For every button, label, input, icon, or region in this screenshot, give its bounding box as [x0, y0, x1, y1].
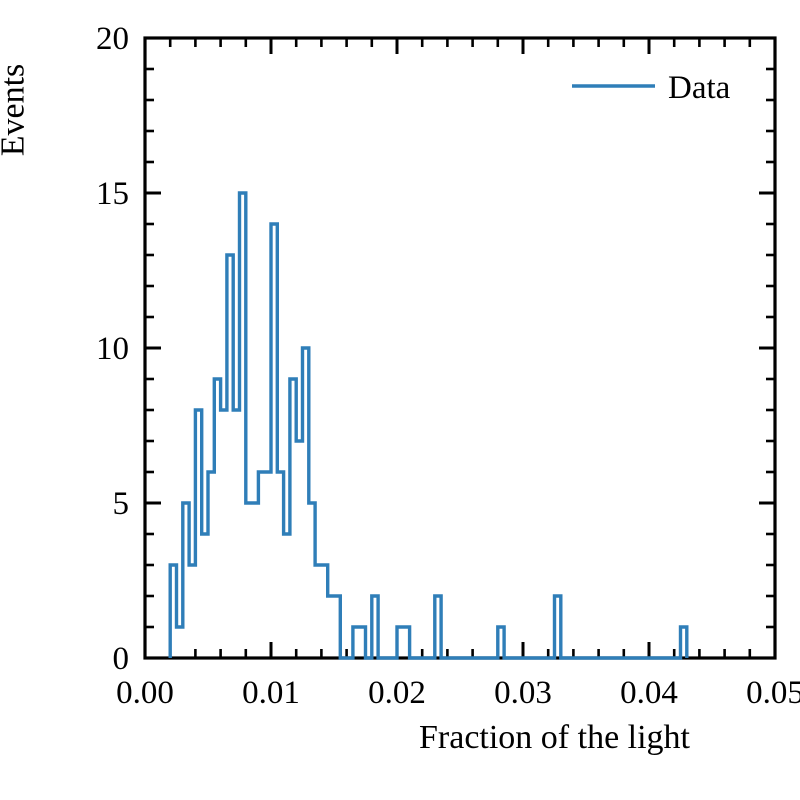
y-tick-label: 0 [113, 641, 130, 677]
x-tick-label: 0.04 [620, 675, 678, 711]
y-tick-label: 15 [96, 176, 129, 212]
legend-label-data: Data [668, 70, 731, 106]
y-tick-label: 10 [96, 331, 129, 367]
y-tick-label: 20 [96, 21, 129, 57]
x-axis-label: Fraction of the light [419, 719, 690, 757]
y-tick-label: 5 [113, 486, 130, 522]
y-axis-tick-labels: 05101520 [96, 21, 129, 677]
x-tick-label: 0.00 [116, 675, 174, 711]
x-axis-tick-labels: 0.000.010.020.030.040.05 [116, 675, 800, 711]
x-tick-label: 0.05 [746, 675, 800, 711]
histogram-plot: 0.000.010.020.030.040.05 05101520 Data [0, 0, 800, 800]
x-tick-label: 0.01 [242, 675, 300, 711]
y-axis-label: Events [0, 64, 32, 157]
x-tick-label: 0.03 [494, 675, 552, 711]
x-tick-label: 0.02 [368, 675, 426, 711]
chart-figure: 0.000.010.020.030.040.05 05101520 Data F… [0, 0, 800, 800]
